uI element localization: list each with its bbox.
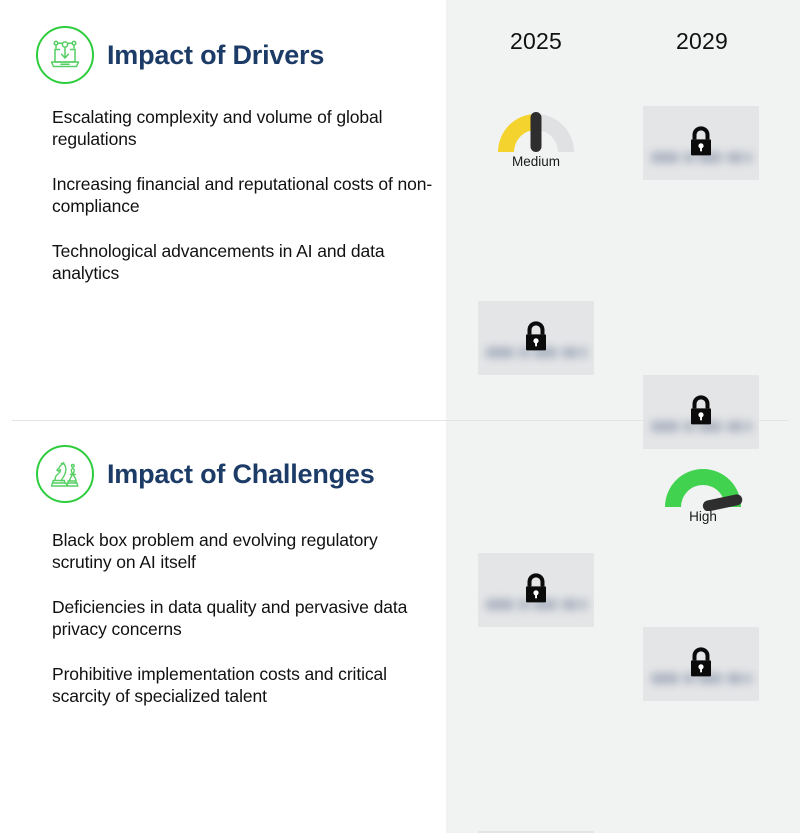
section-title-drivers: Impact of Drivers	[107, 40, 324, 71]
bullet-item: Technological advancements in AI and dat…	[52, 240, 434, 285]
gauge-high-icon	[661, 463, 745, 511]
laptop-download-network-icon	[36, 26, 94, 84]
gauge-value-label: High	[689, 509, 717, 524]
gauge-medium-icon	[494, 108, 578, 156]
chess-pieces-icon	[36, 445, 94, 503]
bullet-item: Black box problem and evolving regulator…	[52, 529, 434, 574]
bullet-item: Prohibitive implementation costs and cri…	[52, 663, 434, 708]
gauge-value-label: Medium	[512, 154, 560, 169]
section-title-challenges: Impact of Challenges	[107, 459, 375, 490]
bullet-item: Deficiencies in data quality and pervasi…	[52, 596, 434, 641]
padlock-icon	[687, 646, 715, 680]
gauge-cell-drivers-r1-2025: Medium	[478, 108, 594, 188]
padlock-icon	[522, 572, 550, 606]
gauge-cell-challenges-r1-2029: High	[645, 463, 761, 543]
padlock-icon	[687, 125, 715, 159]
padlock-icon	[522, 320, 550, 354]
section-header-drivers: Impact of Drivers	[36, 26, 324, 84]
impact-matrix-page: 2025 2029	[0, 0, 800, 833]
column-header-2025: 2025	[471, 28, 601, 55]
padlock-icon	[687, 394, 715, 428]
column-header-2029: 2029	[637, 28, 767, 55]
bullet-list-drivers: Escalating complexity and volume of glob…	[52, 106, 434, 284]
section-header-challenges: Impact of Challenges	[36, 445, 375, 503]
locked-cell-drivers-r3-2025[interactable]	[478, 553, 594, 627]
locked-cell-drivers-r2-2029[interactable]	[643, 375, 759, 449]
bullet-item: Escalating complexity and volume of glob…	[52, 106, 434, 151]
bullet-list-challenges: Black box problem and evolving regulator…	[52, 529, 434, 707]
bullet-item: Increasing financial and reputational co…	[52, 173, 434, 218]
locked-cell-drivers-r3-2029[interactable]	[643, 627, 759, 701]
locked-cell-drivers-r1-2029[interactable]	[643, 106, 759, 180]
locked-cell-drivers-r2-2025[interactable]	[478, 301, 594, 375]
